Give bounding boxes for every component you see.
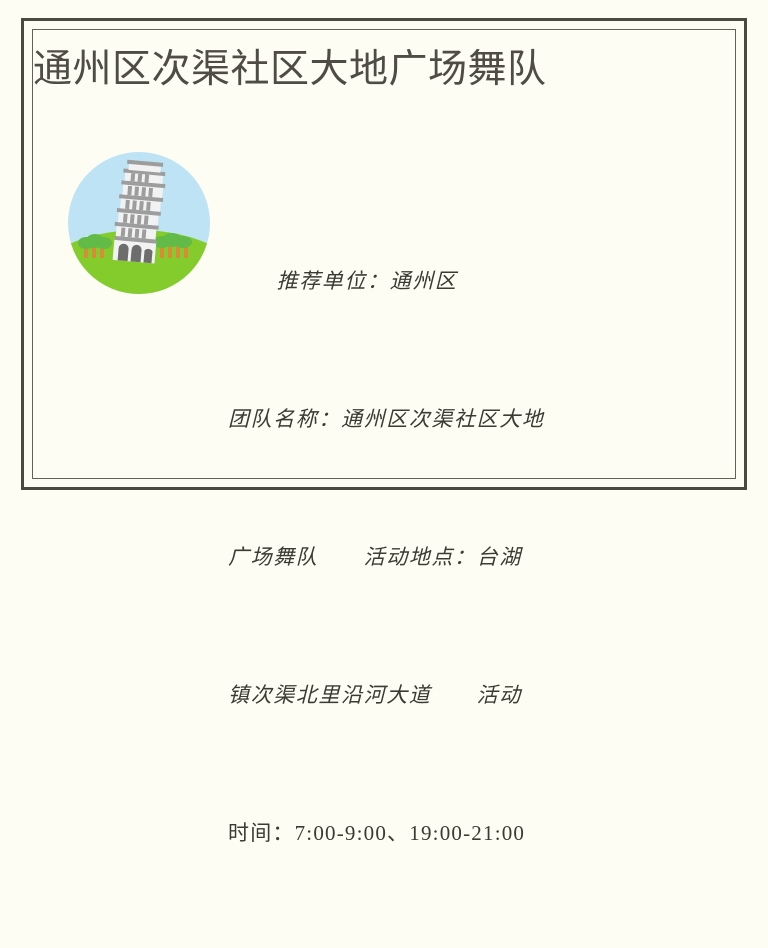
team-info-block: 推荐单位：通州区 团队名称：通州区次渠社区大地 广场舞队 活动地点：台湖 镇次渠… — [228, 166, 680, 948]
info-line-activity-time: 时间：7:00-9:00、19:00-21:00 — [228, 810, 680, 856]
leaning-tower-of-pisa-icon — [68, 152, 210, 294]
info-line-team-name-cont-and-location: 广场舞队 活动地点：台湖 — [228, 534, 680, 580]
info-line-location-cont: 镇次渠北里沿河大道 活动 — [228, 672, 680, 718]
info-line-team-name: 团队名称：通州区次渠社区大地 — [228, 396, 680, 442]
info-line-recommending-unit: 推荐单位：通州区 — [228, 258, 680, 304]
page-root: 通州区次渠社区大地广场舞队 — [0, 0, 768, 510]
page-title: 通州区次渠社区大地广场舞队 — [33, 48, 547, 93]
